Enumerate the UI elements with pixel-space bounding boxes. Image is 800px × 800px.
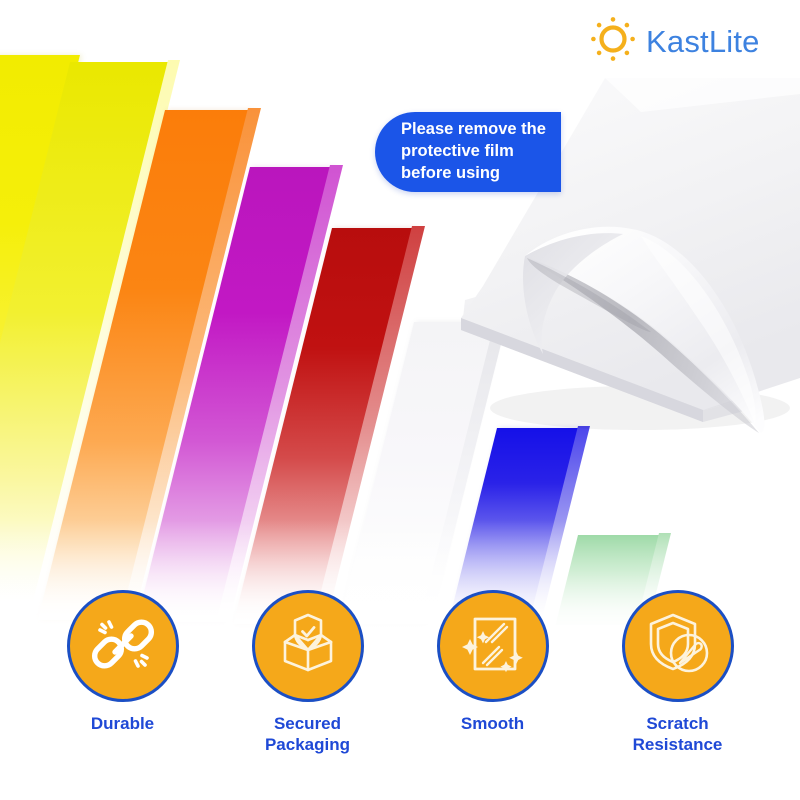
- product-marketing-image: KastLite Please remove the protective fi…: [0, 0, 800, 800]
- chain-link-icon: [89, 610, 157, 683]
- feature-label: Durable: [91, 714, 154, 735]
- feature-secured-packaging[interactable]: Secured Packaging: [223, 590, 393, 755]
- sun-icon: [590, 16, 636, 67]
- badge-circle-smooth: [437, 590, 549, 702]
- callout-text: Please remove the protective film before…: [401, 119, 546, 184]
- brand-logo: KastLite: [590, 16, 760, 67]
- feature-smooth[interactable]: Smooth: [408, 590, 578, 735]
- badge-circle-scratch-resistance: [622, 590, 734, 702]
- protective-film-callout: Please remove the protective film before…: [375, 112, 561, 192]
- brand-wordmark: KastLite: [646, 24, 760, 60]
- feature-label: Secured Packaging: [265, 714, 350, 755]
- feature-badges: Durable: [0, 590, 800, 770]
- feature-label: Smooth: [461, 714, 524, 735]
- badge-circle-secured-packaging: [252, 590, 364, 702]
- shield-blade-icon: [643, 609, 713, 684]
- feature-durable[interactable]: Durable: [38, 590, 208, 735]
- sparkle-panel-icon: [458, 609, 528, 684]
- badge-circle-durable: [67, 590, 179, 702]
- feature-label: Scratch Resistance: [633, 714, 723, 755]
- shield-box-icon: [273, 609, 343, 684]
- feature-scratch-resistance[interactable]: Scratch Resistance: [593, 590, 763, 755]
